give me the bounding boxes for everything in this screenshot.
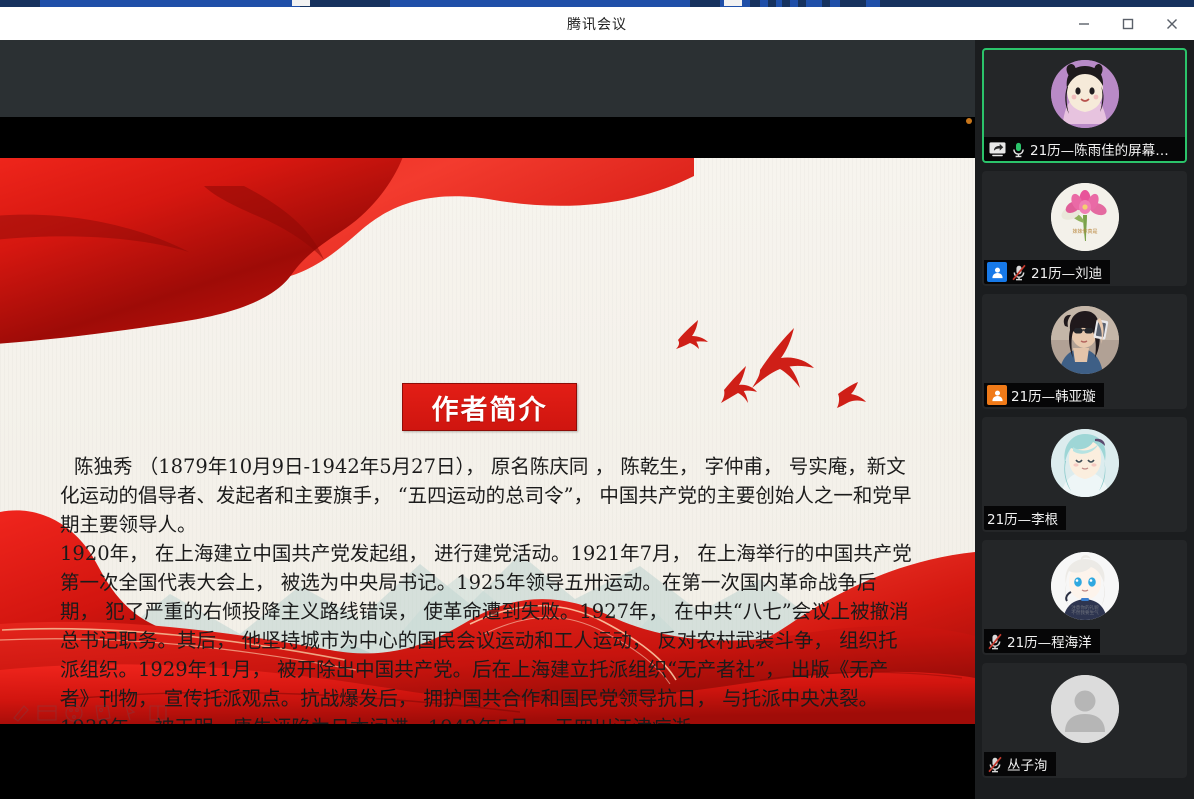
- slide-title-plaque: 作者简介: [402, 383, 577, 431]
- window-titlebar: 腾讯会议: [0, 7, 1194, 40]
- toolbar-watermark-icon: [8, 698, 168, 724]
- microphone-muted-icon: [987, 756, 1003, 773]
- microphone-muted-icon: [1011, 264, 1027, 281]
- avatar: [1051, 675, 1119, 743]
- participant-name: 21历—程海洋: [1007, 631, 1092, 651]
- participant-tile[interactable]: 注意你的礼貌 不然我要生气 21历—程海洋: [982, 540, 1187, 655]
- letterbox-bottom: [0, 724, 975, 799]
- red-silk-ribbon-icon: [0, 158, 694, 344]
- slide-paragraph-2: 1920年， 在上海建立中国共产党发起组， 进行建党活动。1921年7月， 在上…: [60, 539, 915, 724]
- svg-text:注意你的礼貌: 注意你的礼貌: [1071, 604, 1099, 611]
- participant-rail[interactable]: 21历—陈雨佳的屏幕幕... 妹妹你真是: [975, 40, 1194, 799]
- anime-girl-purple-avatar: [1051, 60, 1119, 128]
- avatar: 注意你的礼貌 不然我要生气: [1051, 552, 1119, 620]
- shared-slide: 作者简介 陈独秀 （1879年10月9日-1942年5月27日）， 原名陈庆同 …: [0, 158, 975, 724]
- page-title: 腾讯会议: [567, 14, 627, 34]
- minimize-button[interactable]: [1062, 7, 1106, 40]
- participant-name: 21历—刘迪: [1031, 262, 1102, 282]
- participant-footer: 21历—刘迪: [984, 260, 1110, 284]
- avatar: [1051, 60, 1119, 128]
- letterbox-top: [0, 117, 975, 158]
- participant-tile[interactable]: 丛子洵: [982, 663, 1187, 778]
- avatar: [1051, 306, 1119, 374]
- cohost-badge: [987, 385, 1007, 405]
- participant-footer: 21历—韩亚璇: [984, 383, 1104, 407]
- anime-teal-hair-avatar: [1051, 429, 1119, 497]
- participant-name: 21历—韩亚璇: [1011, 385, 1096, 405]
- window-controls: [1062, 7, 1194, 40]
- participant-tile[interactable]: 21历—陈雨佳的屏幕幕...: [982, 48, 1187, 163]
- slide-body: 陈独秀 （1879年10月9日-1942年5月27日）， 原名陈庆同 ， 陈乾生…: [60, 452, 915, 724]
- flying-birds-icon: [660, 318, 900, 423]
- participant-footer: 21历—程海洋: [984, 629, 1100, 653]
- screen-share-icon: [988, 141, 1007, 157]
- participant-name: 21历—李根: [987, 508, 1058, 528]
- participant-footer: 21历—李根: [984, 506, 1066, 530]
- shared-screen-stage[interactable]: 作者简介 陈独秀 （1879年10月9日-1942年5月27日）， 原名陈庆同 …: [0, 40, 975, 799]
- share-indicator-dot: [966, 118, 972, 124]
- maximize-button[interactable]: [1106, 7, 1150, 40]
- svg-text:不然我要生气: 不然我要生气: [1071, 609, 1099, 616]
- default-person-avatar: [1051, 675, 1119, 743]
- participant-tile[interactable]: 妹妹你真是: [982, 171, 1187, 286]
- participant-name: 21历—陈雨佳的屏幕幕...: [1030, 139, 1177, 159]
- slide-paragraph-1: 陈独秀 （1879年10月9日-1942年5月27日）， 原名陈庆同 ， 陈乾生…: [60, 452, 915, 539]
- svg-text:妹妹你真是: 妹妹你真是: [1072, 228, 1097, 235]
- avatar: [1051, 429, 1119, 497]
- participant-footer: 21历—陈雨佳的屏幕幕...: [984, 137, 1185, 161]
- participant-tile[interactable]: 21历—李根: [982, 417, 1187, 532]
- background-window-strip: [0, 0, 1194, 7]
- slide-title-text: 作者简介: [432, 388, 548, 427]
- lotus-flower-avatar: 妹妹你真是: [1051, 183, 1119, 251]
- tencent-meeting-window: 腾讯会议: [0, 0, 1194, 799]
- host-badge: [987, 262, 1007, 282]
- chibi-white-hair-avatar: 注意你的礼貌 不然我要生气: [1051, 552, 1119, 620]
- microphone-muted-icon: [987, 633, 1003, 650]
- avatar: 妹妹你真是: [1051, 183, 1119, 251]
- participant-name: 丛子洵: [1007, 754, 1048, 774]
- woman-sunglasses-selfie-avatar: [1051, 306, 1119, 374]
- close-button[interactable]: [1150, 7, 1194, 40]
- participant-tile[interactable]: 21历—韩亚璇: [982, 294, 1187, 409]
- microphone-icon: [1011, 141, 1026, 158]
- participant-footer: 丛子洵: [984, 752, 1056, 776]
